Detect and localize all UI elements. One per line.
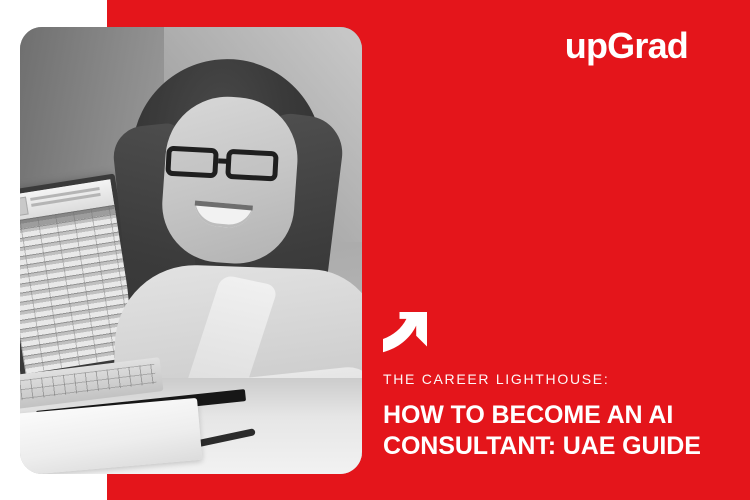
hero-photo xyxy=(20,27,362,474)
swoosh-arrow-up-right-icon xyxy=(383,312,427,361)
blog-banner: upGrad THE CAREER LIGHTHOUSE: HOW TO BEC… xyxy=(0,0,750,500)
page-title: HOW TO BECOME AN AI CONSULTANT: UAE GUID… xyxy=(383,400,733,461)
headline-line-1: HOW TO BECOME AN AI xyxy=(383,400,733,431)
headline-line-2: CONSULTANT: UAE GUIDE xyxy=(383,431,733,462)
desk-surface xyxy=(20,378,362,474)
upgrad-logo[interactable]: upGrad xyxy=(565,28,688,64)
eyeglasses-right-lens xyxy=(225,149,278,182)
eyebrow-text: THE CAREER LIGHTHOUSE: xyxy=(383,371,609,388)
photo-backdrop xyxy=(20,27,362,474)
eyeglasses-left-lens xyxy=(165,146,218,179)
